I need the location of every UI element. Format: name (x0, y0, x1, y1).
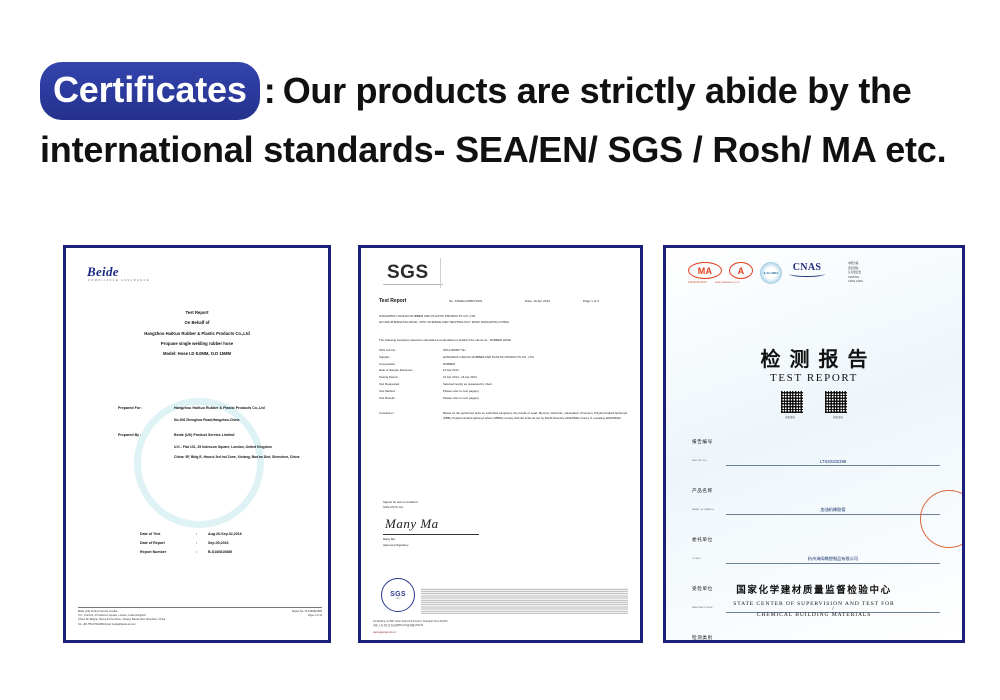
report-number-row: Report Number : B-S160810885 (140, 548, 242, 557)
sgs-field-composition: Composition : RUBBER (379, 361, 631, 368)
sgs-conclusion-value: Based on the performed tests on submitte… (443, 411, 631, 422)
ma-footer-en-2: CHEMICAL BUILDING MATERIALS (666, 610, 962, 620)
footer-page: Page 1 of 11 (262, 614, 322, 618)
sgs-field-value: Please refer to next page(s). (443, 388, 631, 395)
qr-caption-1: 真伪查询 (775, 415, 805, 419)
ma-row-client: 委托单位 CLIENT 杭州海阔橡塑制品有限公司 (692, 528, 940, 564)
beide-logo: Beide (87, 264, 119, 280)
report-number-sep: : (196, 548, 208, 557)
page-header: Certificates:Our products are strictly a… (40, 62, 970, 176)
certificate-sgs[interactable]: SGS Test Report No. SHAEC1405671001 Date… (358, 245, 643, 643)
sgs-conclusion-key: Conclusion : (379, 411, 443, 422)
cnas-logo-icon: CNAS (789, 262, 825, 277)
sgs-signed-line2: SGS-CSTC Ltd (383, 505, 533, 510)
certificates-badge: Certificates (40, 62, 260, 120)
ma-footer-cn: 国家化学建材质量监督检验中心 (666, 583, 962, 599)
prepared-by-label: Prepared By : (118, 433, 174, 438)
sgs-field-value: 10 Apr 2014 - 16 Apr 2014 (443, 374, 631, 381)
sgs-field-value: 10 Apr 2014 (443, 367, 631, 374)
certificates-row: Beide COMPLIANCE ASSURANCE Test Report O… (0, 245, 1000, 645)
sgs-intro: The following sample(s) was/were submitt… (379, 338, 631, 342)
sgs-field-key: Testing Period : (379, 374, 443, 381)
prepared-by-address-cn: China: 5F, Bldg E, Hourui 3rd Ind Zone, … (174, 455, 328, 460)
header-line-2: international standards- SEA/EN/ SGS / R… (40, 124, 970, 176)
cnas-logo-arc (789, 271, 825, 277)
sgs-logo-rule (383, 284, 443, 285)
ma-row-key-cn: 产品名称 (692, 488, 713, 493)
certificate-ma-page: MA A ILAC-MRA CNAS 1500021120001 www.mau… (666, 248, 962, 640)
date-of-test-value: Aug.26-Sep.02,2016 (208, 530, 242, 539)
date-of-report-row: Date of Report : Sep.05,2016 (140, 539, 242, 548)
ma-title-cn: 检测报告 (666, 343, 962, 372)
sgs-header-row: Test Report No. SHAEC1405671001 Date: 16… (379, 298, 629, 304)
report-number-label: Report Number (140, 548, 196, 557)
sgs-seal-sub: CSTC (395, 598, 400, 600)
certificate-ma[interactable]: MA A ILAC-MRA CNAS 1500021120001 www.mau… (663, 245, 965, 643)
ma-row-sample-name: 产品名称 NAME OF SAMPLE 加油机橡胶管 (692, 479, 940, 515)
beide-title: Test Report (66, 308, 328, 318)
qr-caption-2: 报告查询 (823, 415, 853, 419)
ma-row-key-en: REPORT NO. (692, 460, 708, 462)
sgs-field-testing-period: Testing Period : 10 Apr 2014 - 16 Apr 20… (379, 374, 631, 381)
prepared-by-value: Beide (UK) Product Service Limited (174, 433, 328, 438)
certificate-beide-page: Beide COMPLIANCE ASSURANCE Test Report O… (66, 248, 328, 640)
sgs-conclusion: Conclusion : Based on the performed test… (379, 411, 631, 422)
footer-row: Beide (UK) Product Service Limited U.K.:… (78, 610, 322, 628)
cnas-caption-5: CNAS L0116 (848, 280, 863, 285)
ma-row-key-en: NAME OF SAMPLE (692, 509, 714, 511)
sgs-client-addr: NO.206 ZHENGHUA ROAD, XIHU SCIENCE AND T… (379, 320, 629, 326)
beide-model: Model: Hose I.D 8.0MM, O.D 15MM (66, 349, 328, 359)
beide-title-block: Test Report On Behalf of Hangzhou HaiKuo… (66, 308, 328, 359)
ma-row-key-en: CLIENT (692, 558, 701, 560)
sgs-field-key: Test Method : (379, 388, 443, 395)
ma-logo-icon: MA (688, 262, 722, 279)
ma-logo-captions: 1500021120001 www.mauktest.cn.cn (688, 282, 740, 284)
prepared-for-row: Prepared For : Hangzhou HaiKuo Rubber & … (118, 406, 328, 411)
date-of-test-sep: : (196, 530, 208, 539)
ma-row-key: 委托单位 CLIENT (692, 528, 726, 564)
sgs-fields: SGS Job No : SP14-009607 SH Supplier : H… (379, 347, 631, 402)
sgs-field-key: SGS Job No : (379, 347, 443, 354)
ma-row-key: 报告编号 REPORT NO. (692, 430, 726, 466)
ilac-mra-logo-icon: ILAC-MRA (760, 262, 782, 284)
sgs-field-value: SP14-009607 SH (443, 347, 631, 354)
ma-title-en: TEST REPORT (666, 372, 962, 384)
ma-row-value: LTX2010Z298 (726, 459, 940, 467)
cnas-caption-3: 认可委员会 (848, 271, 863, 276)
header-colon: : (264, 65, 276, 117)
beide-company: Hangzhou HaiKuo Rubber & Plastic Product… (66, 329, 328, 339)
sgs-field-key: Composition : (379, 361, 443, 368)
ma-qr-codes (666, 391, 962, 413)
sgs-signature: Many Ma (385, 516, 533, 532)
sgs-signature-rule (383, 534, 479, 535)
footer-contact: Tel: +86-755-27644486 Email: beide@beide… (78, 623, 262, 627)
beide-product: Propane single welding rubber hose (66, 339, 328, 349)
sgs-signatory-title: Approved Signatory (383, 543, 533, 548)
prepared-for-address: No.206 Zhenghua Road,Hangzhou,China (174, 418, 328, 423)
certificates-page: Certificates:Our products are strictly a… (0, 0, 1000, 700)
ma-row-key-cn: 检测类别 (692, 635, 713, 640)
ma-logo-caption-1: 1500021120001 (688, 282, 707, 284)
beide-footer: Beide (UK) Product Service Limited U.K.:… (78, 607, 322, 627)
sgs-field-value: Selected test(s) as requested by client (443, 381, 631, 388)
sgs-client-address: HANGZHOU HAIKUO RUBBER AND PLASTIC PRODU… (379, 314, 629, 325)
sgs-logo-mark (440, 258, 441, 288)
ma-row-key-cn: 委托单位 (692, 537, 713, 542)
beide-logo-subtitle: COMPLIANCE ASSURANCE (88, 279, 150, 282)
ma-row-test-category: 检测类别 TEST CATEGORY 委托检测 (692, 626, 940, 640)
ma-row-value: 杭州海阔橡塑制品有限公司 (726, 556, 940, 565)
beide-onbehalf: On Behalf of (66, 318, 328, 328)
sgs-footer-cn: 中国·上海·徐汇区宜山路889号3号楼 邮编:200233 (373, 624, 628, 628)
sgs-field-value: RUBBER (443, 361, 631, 368)
prepared-by-address-uk: U.K.: Flat 101, 25 Indescon Square, Lond… (174, 445, 328, 450)
sgs-field-supplier: Supplier : HANGZHOU HAIKUO RUBBER AND PL… (379, 354, 631, 361)
sgs-title: Test Report (379, 298, 449, 304)
date-of-report-sep: : (196, 539, 208, 548)
report-number-value: B-S160810885 (208, 548, 232, 557)
ma-row-key: 检测类别 TEST CATEGORY (692, 626, 726, 640)
sgs-field-test-requested: Test Requested : Selected test(s) as req… (379, 381, 631, 388)
sgs-field-key: Supplier : (379, 354, 443, 361)
ma-row-report-no: 报告编号 REPORT NO. LTX2010Z298 (692, 430, 940, 466)
header-text-line1: Our products are strictly abide by the (283, 70, 912, 111)
qr-code-icon (825, 391, 847, 413)
ma-footer-en-1: STATE CENTER OF SUPERVISION AND TEST FOR (666, 599, 962, 609)
sgs-date: Date: 16 Apr 2014 (525, 299, 583, 303)
date-of-report-value: Sep.05,2016 (208, 539, 229, 548)
prepared-for-label: Prepared For : (118, 406, 174, 411)
prepared-for-value: Hangzhou HaiKuo Rubber & Plastic Product… (174, 406, 328, 411)
header-text-line2: international standards- SEA/EN/ SGS / R… (40, 129, 946, 170)
cal-logo-icon: A (729, 262, 753, 279)
sgs-footer-web: www.sgsgroup.com.cn (373, 632, 493, 634)
date-of-test-row: Date of Test : Aug.26-Sep.02,2016 (140, 530, 242, 539)
prepared-by-row: Prepared By : Beide (UK) Product Service… (118, 433, 328, 438)
ma-footer: 国家化学建材质量监督检验中心 STATE CENTER OF SUPERVISI… (666, 583, 962, 620)
sgs-field-test-method: Test Method : Please refer to next page(… (379, 388, 631, 395)
sgs-field-test-results: Test Results : Please refer to next page… (379, 395, 631, 402)
cnas-caption-block: 中国合格 评定国家 认可委员会 TESTING CNAS L0116 (848, 262, 863, 285)
sgs-seal-icon: SGS CSTC (381, 578, 415, 612)
header-line-1: Certificates:Our products are strictly a… (40, 62, 970, 120)
certificate-sgs-page: SGS Test Report No. SHAEC1405671001 Date… (361, 248, 640, 640)
sgs-field-key: Date of Sample Received : (379, 367, 443, 374)
sgs-signature-block: Signed for and on behalf of SGS-CSTC Ltd… (383, 500, 533, 548)
beide-dates-block: Date of Test : Aug.26-Sep.02,2016 Date o… (140, 530, 242, 557)
sgs-field-value: Please refer to next page(s). (443, 395, 631, 402)
sgs-field-key: Test Requested : (379, 381, 443, 388)
sgs-footer-lines: 3rd Building, No.889 Yishan Road Xuhui D… (373, 620, 628, 628)
ma-logo-caption-2: www.mauktest.cn.cn (715, 282, 740, 284)
ma-row-key: 产品名称 NAME OF SAMPLE (692, 479, 726, 515)
sgs-field-job-no: SGS Job No : SP14-009607 SH (379, 347, 631, 354)
ma-row-key-cn: 报告编号 (692, 439, 713, 444)
sgs-report-no: No. SHAEC1405671001 (449, 299, 525, 303)
sgs-logo: SGS (387, 262, 429, 284)
sgs-footer-disclaimer-block (421, 588, 628, 614)
ma-qr-captions: 真伪查询 报告查询 (666, 415, 962, 419)
ma-accreditation-logos: MA A ILAC-MRA CNAS (688, 262, 825, 284)
certificate-beide[interactable]: Beide COMPLIANCE ASSURANCE Test Report O… (63, 245, 331, 643)
date-of-test-label: Date of Test (140, 530, 196, 539)
beide-prepared-block: Prepared For : Hangzhou HaiKuo Rubber & … (118, 406, 328, 460)
sgs-field-date-received: Date of Sample Received : 10 Apr 2014 (379, 367, 631, 374)
sgs-field-key: Test Results : (379, 395, 443, 402)
ma-row-value: 加油机橡胶管 (726, 507, 940, 516)
sgs-field-value: HANGZHOU HAIKUO RUBBER AND PLASTIC PRODU… (443, 354, 631, 361)
qr-code-icon (781, 391, 803, 413)
sgs-seal-text: SGS (390, 591, 406, 598)
date-of-report-label: Date of Report (140, 539, 196, 548)
sgs-page: Page 1 of 3 (583, 299, 599, 303)
